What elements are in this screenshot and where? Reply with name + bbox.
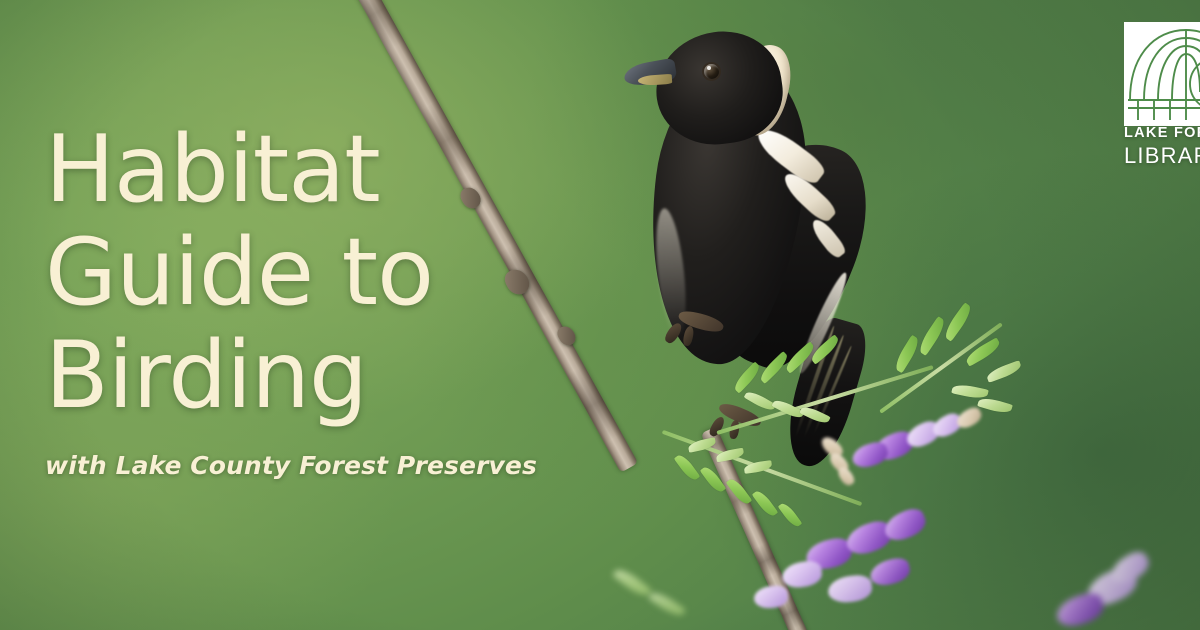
title-line-3: Birding <box>45 324 537 427</box>
title-block: Habitat Guide to Birding with Lake Count… <box>45 118 537 480</box>
lake-forest-library-logo[interactable] <box>1124 22 1200 126</box>
title-line-1: Habitat <box>45 118 537 221</box>
subtitle: with Lake County Forest Preserves <box>45 451 537 480</box>
conservatory-dome-icon <box>1124 22 1200 126</box>
title-line-2: Guide to <box>45 221 537 324</box>
habitat-guide-banner: Habitat Guide to Birding with Lake Count… <box>0 0 1200 630</box>
logo-text-line-1: LAKE FOREST <box>1124 126 1200 141</box>
logo-wordmark: LAKE FOREST LIBRARY <box>1124 126 1200 167</box>
logo-text-line-2: LIBRARY <box>1124 145 1200 167</box>
